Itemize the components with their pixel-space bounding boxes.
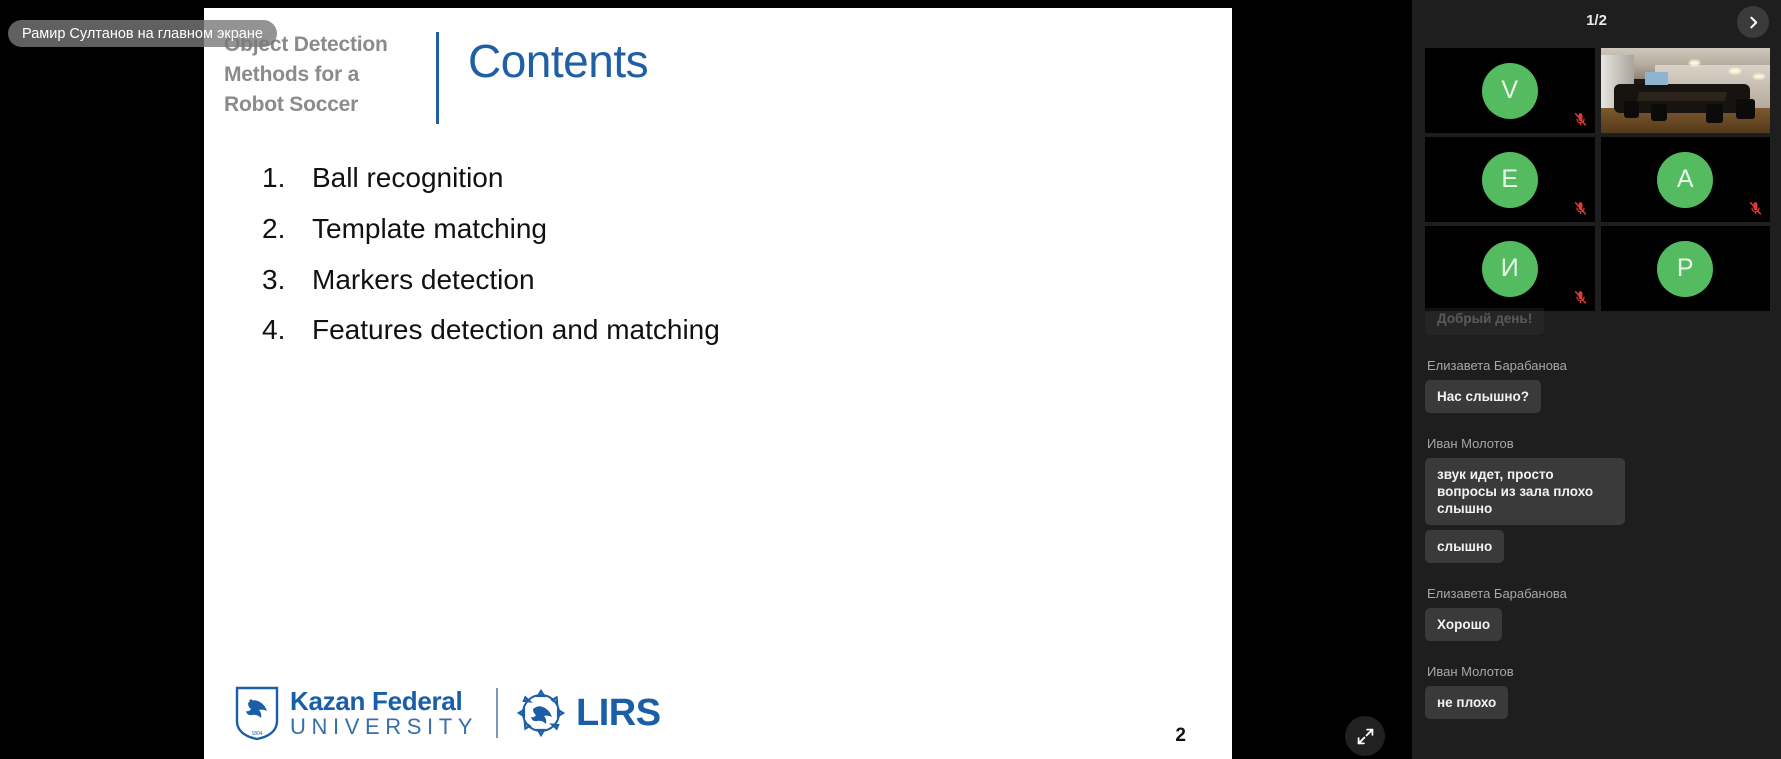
logo-divider (496, 688, 498, 738)
slide-title: Contents (468, 34, 648, 88)
pager-next-button[interactable] (1737, 6, 1769, 38)
chat-entry: Иван Молотов звук идет, просто вопросы и… (1425, 436, 1768, 568)
video-call-screen: Рамир Султанов на главном экране Object … (0, 0, 1781, 759)
room-camera-feed (1601, 48, 1771, 133)
mic-muted-icon (1574, 112, 1587, 127)
slide-contents-list: 1. Ball recognition 2. Template matching… (262, 160, 1112, 363)
fullscreen-button[interactable] (1345, 716, 1385, 756)
svg-text:1804: 1804 (251, 731, 262, 737)
participant-tile[interactable]: Е (1425, 137, 1595, 222)
slide-header: Object Detection Methods for a Robot Soc… (224, 30, 1024, 140)
kfu-line-2: UNIVERSITY (290, 715, 478, 739)
lirs-wordmark: LIRS (576, 692, 661, 735)
list-item-text: Features detection and matching (312, 312, 1112, 348)
participant-tile[interactable]: А (1601, 137, 1771, 222)
mic-muted-icon (1574, 290, 1587, 305)
chat-bubble: звук идет, просто вопросы из зала плохо … (1425, 458, 1625, 525)
mic-muted-icon (1749, 201, 1762, 216)
chat-bubble: Хорошо (1425, 608, 1502, 641)
list-item-text: Ball recognition (312, 160, 1112, 196)
chat-author: Иван Молотов (1427, 436, 1768, 451)
chat-bubble: Нас слышно? (1425, 380, 1541, 413)
list-item-number: 3. (262, 262, 312, 298)
expand-icon (1357, 728, 1374, 745)
kfu-line-1: Kazan Federal (290, 688, 478, 715)
right-sidebar: 1/2 V (1412, 0, 1781, 759)
list-item: 4. Features detection and matching (262, 312, 1112, 348)
lirs-gear-icon (516, 688, 566, 738)
avatar: V (1482, 63, 1538, 119)
kfu-wordmark: Kazan Federal UNIVERSITY (290, 688, 478, 739)
avatar: А (1657, 152, 1713, 208)
list-item-text: Markers detection (312, 262, 1112, 298)
chat-entry: Елизавета Барабанова Хорошо (1425, 586, 1768, 646)
list-item: 3. Markers detection (262, 262, 1112, 298)
participant-tile[interactable]: Р (1601, 226, 1771, 311)
chat-entry: Добрый день! (1425, 308, 1768, 340)
chat-author: Елизавета Барабанова (1427, 586, 1768, 601)
chat-author: Елизавета Барабанова (1427, 358, 1768, 373)
screen-share-owner-label: Рамир Султанов на главном экране (22, 26, 263, 42)
list-item-number: 2. (262, 211, 312, 247)
shared-slide: Object Detection Methods for a Robot Soc… (204, 8, 1232, 759)
participant-tile[interactable]: И (1425, 226, 1595, 311)
chat-panel[interactable]: Добрый день! Елизавета Барабанова Нас сл… (1412, 308, 1781, 759)
chat-author: Иван Молотов (1427, 664, 1768, 679)
chat-bubble: Добрый день! (1425, 308, 1544, 335)
list-item-number: 1. (262, 160, 312, 196)
screen-share-owner-pill: Рамир Султанов на главном экране (8, 20, 277, 47)
list-item: 2. Template matching (262, 211, 1112, 247)
chat-bubble: слышно (1425, 530, 1504, 563)
chat-entry: Елизавета Барабанова Нас слышно? (1425, 358, 1768, 418)
list-item-text: Template matching (312, 211, 1112, 247)
slide-header-divider (436, 32, 439, 124)
chat-entry: Иван Молотов не плохо (1425, 664, 1768, 729)
avatar: Е (1482, 152, 1538, 208)
screen-share-stage[interactable]: Рамир Султанов на главном экране Object … (0, 0, 1412, 759)
chevron-right-icon (1747, 16, 1760, 29)
avatar: И (1482, 241, 1538, 297)
kfu-shield-icon: 1804 (234, 685, 280, 741)
chat-bubble: не плохо (1425, 686, 1508, 719)
slide-footer-logos: 1804 Kazan Federal UNIVERSITY LIRS (234, 681, 661, 745)
slide-page-number: 2 (1175, 725, 1186, 747)
list-item-number: 4. (262, 312, 312, 348)
participant-tile[interactable]: V (1425, 48, 1595, 133)
avatar: Р (1657, 241, 1713, 297)
participant-tile-grid: V (1425, 48, 1770, 311)
mic-muted-icon (1574, 201, 1587, 216)
participants-pager: 1/2 (1412, 0, 1781, 44)
pager-label: 1/2 (1412, 12, 1781, 29)
participant-tile-video[interactable] (1601, 48, 1771, 133)
chat-message-list: Добрый день! Елизавета Барабанова Нас сл… (1412, 308, 1781, 729)
list-item: 1. Ball recognition (262, 160, 1112, 196)
